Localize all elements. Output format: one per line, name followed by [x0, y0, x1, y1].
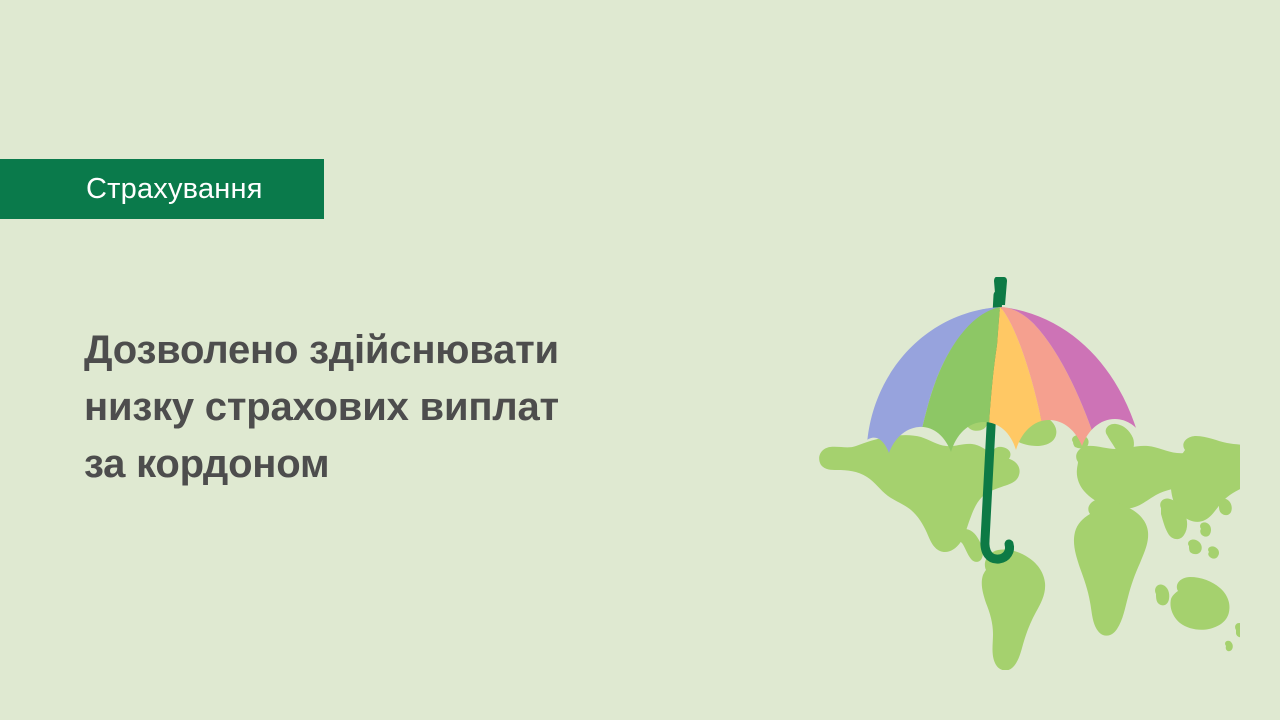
world-map-icon: [819, 412, 1240, 670]
headline-line-2: низку страхових виплат: [84, 379, 704, 436]
umbrella-tip-finial: [994, 277, 1007, 305]
umbrella-handle-hook: [985, 540, 1010, 559]
headline-line-1: Дозволено здійснювати: [84, 322, 704, 379]
page-title: Дозволено здійснювати низку страхових ви…: [84, 322, 704, 493]
illustration-svg: [790, 250, 1240, 670]
illustration-umbrella-world-map: [790, 250, 1240, 670]
category-badge-label: Страхування: [0, 175, 263, 204]
slide-root: Страхування Дозволено здійснювати низку …: [0, 0, 1280, 720]
headline-line-3: за кордоном: [84, 436, 704, 493]
category-badge: Страхування: [0, 159, 324, 219]
